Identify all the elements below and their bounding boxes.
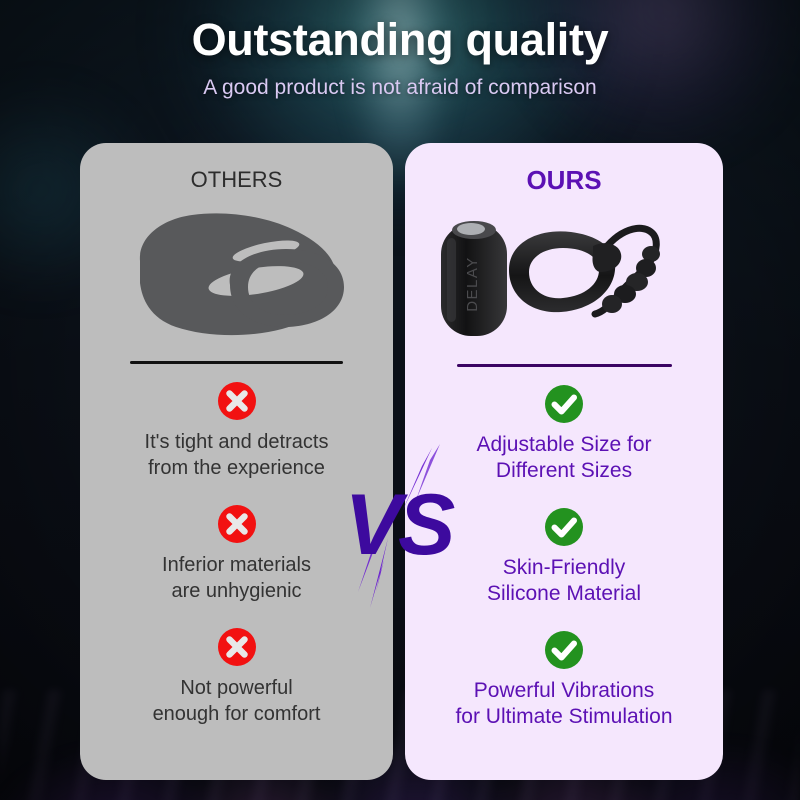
- column-heading-others: OTHERS: [80, 167, 393, 193]
- header: Outstanding quality A good product is no…: [0, 12, 800, 102]
- page-subtitle: A good product is not afraid of comparis…: [0, 74, 800, 102]
- vs-label: VS: [345, 477, 455, 573]
- page-title: Outstanding quality: [0, 12, 800, 68]
- feature-item-others-3: Not powerful enough for comfort: [80, 626, 393, 727]
- product-image-others: [80, 199, 393, 351]
- feature-line: for Ultimate Stimulation: [405, 704, 723, 730]
- feature-text-ours-3: Powerful Vibrations for Ultimate Stimula…: [405, 678, 723, 730]
- column-heading-ours: OURS: [405, 165, 723, 196]
- cross-icon: [216, 380, 258, 422]
- cross-icon: [216, 626, 258, 668]
- black-silicone-ring-product: DELAY: [405, 202, 723, 354]
- check-icon: [543, 506, 585, 548]
- feature-line: enough for comfort: [80, 701, 393, 727]
- check-icon: [543, 383, 585, 425]
- feature-line: Not powerful: [80, 675, 393, 701]
- feature-line: Powerful Vibrations: [405, 678, 723, 704]
- product-image-ours: DELAY: [405, 202, 723, 354]
- product-brand-text: DELAY: [464, 256, 481, 312]
- comparison-graphic: Outstanding quality A good product is no…: [0, 0, 800, 800]
- feature-text-others-3: Not powerful enough for comfort: [80, 675, 393, 727]
- divider-others: [130, 361, 343, 364]
- cross-icon: [216, 503, 258, 545]
- vs-logo: VS: [336, 442, 464, 614]
- vs-badge: VS: [336, 442, 464, 614]
- check-icon: [543, 629, 585, 671]
- gray-double-ring-silhouette: [80, 199, 393, 351]
- feature-item-ours-3: Powerful Vibrations for Ultimate Stimula…: [405, 629, 723, 730]
- divider-ours: [457, 364, 672, 367]
